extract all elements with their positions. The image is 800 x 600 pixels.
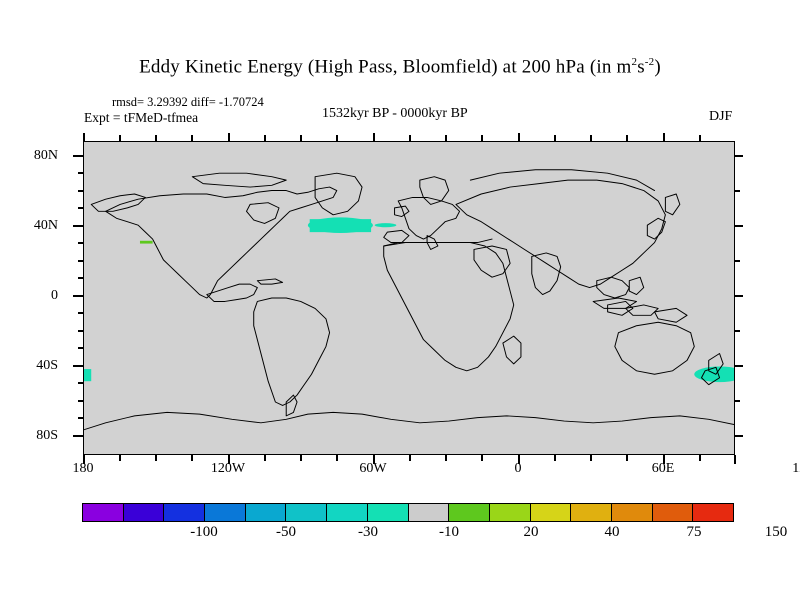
xtick-top (228, 133, 230, 141)
colorbar-cell-6 (327, 504, 368, 521)
coast-canada-arctic (192, 173, 286, 187)
ytick-right-minor (735, 260, 740, 262)
colorbar-label-40: 40 (605, 524, 620, 541)
ytick-80S (73, 435, 83, 437)
xtick-label-60E: 60E (652, 461, 675, 477)
coast-south-america (254, 298, 330, 405)
coast-new-guinea (655, 308, 688, 322)
coast-southeast-asia (597, 277, 630, 298)
xtick-bottom (590, 455, 592, 461)
colorbar-cell-11 (531, 504, 572, 521)
ytick-label-0: 0 (51, 288, 58, 304)
xtick-bottom (734, 455, 736, 464)
colorbar-label-neg50: -50 (276, 524, 296, 541)
ytick-minor (78, 382, 83, 384)
xtick-bottom (336, 455, 338, 461)
xtick-top (264, 135, 266, 141)
anomaly-east-atlantic-sliver (375, 223, 397, 227)
page-title-text: Eddy Kinetic Energy (High Pass, Bloomfie… (139, 56, 631, 77)
colorbar-cell-14 (653, 504, 694, 521)
ytick-minor (78, 330, 83, 332)
anomaly-northeast-pacific (140, 241, 153, 244)
colorbar-cell-15 (693, 504, 733, 521)
ytick-right-minor (735, 155, 743, 157)
xtick-bottom (445, 455, 447, 461)
ytick-40N (73, 225, 83, 227)
colorbar-cell-3 (205, 504, 246, 521)
coast-cuba (257, 279, 282, 284)
colorbar-cell-8 (409, 504, 450, 521)
ytick-right-minor (735, 225, 743, 227)
period-annotation: 1532kyr BP - 0000kyr BP (322, 106, 468, 122)
xtick-bottom (155, 455, 157, 461)
coast-siberia-north (470, 170, 654, 191)
world-map-svg (84, 142, 734, 454)
ytick-minor (78, 260, 83, 262)
xtick-top (518, 133, 520, 141)
xtick-top (119, 135, 121, 141)
colorbar-cell-4 (246, 504, 287, 521)
ytick-minor (78, 277, 83, 279)
colorbar-cell-10 (490, 504, 531, 521)
colorbar-cell-1 (124, 504, 165, 521)
coast-philippines (629, 277, 643, 294)
coast-scandinavia (420, 177, 449, 205)
xtick-top (445, 135, 447, 141)
ytick-minor (78, 172, 83, 174)
title-mid-text: s (637, 56, 645, 77)
ytick-label-40N: 40N (34, 218, 58, 234)
ytick-80N (73, 155, 83, 157)
ytick-minor (78, 312, 83, 314)
colorbar (82, 503, 734, 522)
ytick-label-40S: 40S (36, 358, 58, 374)
ytick-minor (78, 347, 83, 349)
coast-antarctic-peninsula (286, 395, 297, 416)
coast-india (532, 253, 561, 295)
ytick-label-80S: 80S (36, 428, 58, 444)
xtick-top (663, 133, 665, 141)
colorbar-cell-5 (286, 504, 327, 521)
colorbar-cell-13 (612, 504, 653, 521)
coast-australia (615, 322, 694, 374)
colorbar-label-neg100: -100 (190, 524, 218, 541)
map-plot-area (83, 141, 735, 455)
xtick-top (300, 135, 302, 141)
coast-madagascar (503, 336, 521, 364)
ytick-40S (73, 365, 83, 367)
xtick-top (373, 133, 375, 141)
xtick-bottom (264, 455, 266, 461)
colorbar-label-20: 20 (524, 524, 539, 541)
coast-iberia (384, 230, 409, 242)
colorbar-cell-0 (83, 504, 124, 521)
coast-japan (647, 218, 665, 239)
xtick-top (83, 133, 85, 141)
xtick-label-120E: 120E (792, 461, 800, 477)
anomaly-south-pacific-west-edge (84, 369, 91, 381)
xtick-top (699, 135, 701, 141)
xtick-bottom (409, 455, 411, 461)
anomaly-north-atlantic-block (310, 219, 371, 232)
ytick-minor (78, 400, 83, 402)
xtick-top (409, 135, 411, 141)
xtick-label-60W: 60W (359, 461, 386, 477)
xtick-bottom (554, 455, 556, 461)
experiment-annotation: Expt = tFMeD-tfmea (84, 110, 198, 126)
colorbar-cell-12 (571, 504, 612, 521)
xtick-bottom (300, 455, 302, 461)
ytick-right-minor (735, 330, 740, 332)
xtick-bottom (626, 455, 628, 461)
anomaly-southwest-pacific (694, 366, 734, 382)
xtick-bottom (119, 455, 121, 461)
coast-greenland (315, 173, 362, 215)
xtick-label-0: 0 (515, 461, 522, 477)
coast-alaska (91, 194, 145, 211)
xtick-label-120W: 120W (211, 461, 245, 477)
ytick-0 (73, 295, 83, 297)
ytick-right-minor (735, 435, 743, 437)
colorbar-cell-7 (368, 504, 409, 521)
colorbar-label-neg30: -30 (358, 524, 378, 541)
xtick-bottom (481, 455, 483, 461)
ytick-right-minor (735, 400, 740, 402)
colorbar-label-neg10: -10 (439, 524, 459, 541)
ytick-right-minor (735, 295, 743, 297)
ytick-minor (78, 417, 83, 419)
ytick-right-minor (735, 365, 743, 367)
xtick-top (191, 135, 193, 141)
xtick-top (590, 135, 592, 141)
xtick-top (155, 135, 157, 141)
coast-europe (398, 197, 459, 239)
ytick-minor (78, 190, 83, 192)
xtick-bottom (191, 455, 193, 461)
colorbar-label-150: 150 (765, 524, 788, 541)
xtick-label-180W: 180 (73, 461, 94, 477)
colorbar-cell-2 (164, 504, 205, 521)
ytick-minor (78, 242, 83, 244)
season-annotation: DJF (709, 109, 732, 125)
colorbar-label-75: 75 (687, 524, 702, 541)
coast-kamchatka (665, 194, 679, 215)
title-superscript-minus2: -2 (645, 56, 655, 68)
page-title: Eddy Kinetic Energy (High Pass, Bloomfie… (0, 56, 800, 78)
ytick-minor (78, 207, 83, 209)
coast-africa (384, 243, 514, 371)
ytick-right-minor (735, 190, 740, 192)
rmsd-annotation: rmsd= 3.29392 diff= -1.70724 (112, 95, 264, 110)
xtick-top (626, 135, 628, 141)
xtick-top (554, 135, 556, 141)
ytick-label-80N: 80N (34, 148, 58, 164)
coast-asia (456, 180, 665, 287)
coast-hudson-bay (247, 203, 280, 224)
title-end-paren: ) (654, 56, 661, 77)
xtick-top (481, 135, 483, 141)
colorbar-cell-9 (449, 504, 490, 521)
coastline-layer (84, 170, 734, 430)
coast-antarctica (84, 412, 734, 429)
xtick-bottom (699, 455, 701, 461)
xtick-top (336, 135, 338, 141)
